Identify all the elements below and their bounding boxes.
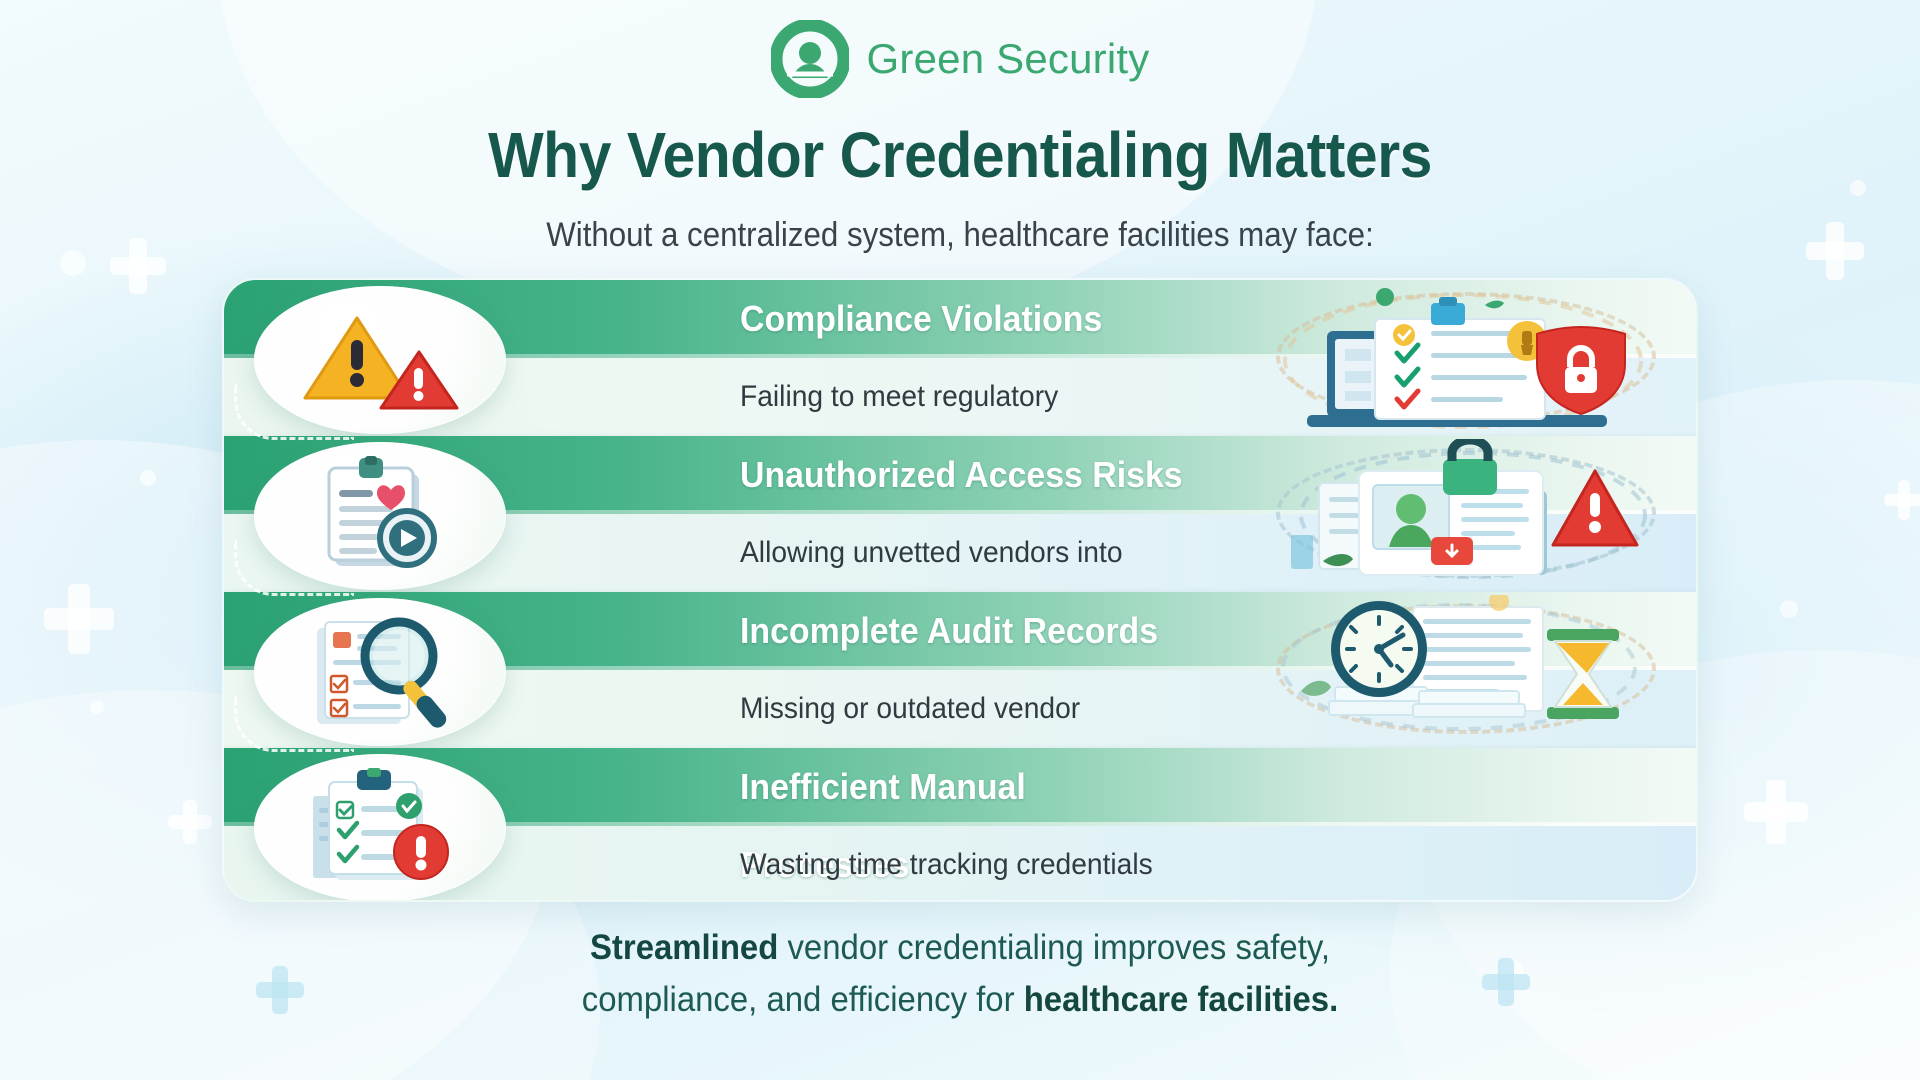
- row-description: Missing or outdated vendor documentation: [740, 670, 1197, 748]
- checklist-clipboard-alert-icon: [254, 754, 506, 902]
- dashed-connector: [234, 540, 354, 596]
- footer-line-2: compliance, and efficiency for healthcar…: [58, 974, 1863, 1026]
- row-text: Unauthorized Access Risks Allowing unvet…: [740, 436, 1226, 592]
- row-description: Failing to meet regulatory requirerments: [740, 358, 1197, 436]
- brand-name: Green Security: [867, 35, 1150, 83]
- dashed-connector: [234, 384, 354, 440]
- brand-header: Green Security: [0, 20, 1920, 98]
- row-title: Inefficient Manual Processes: [740, 748, 1197, 826]
- list-item[interactable]: Unauthorized Access Risks Allowing unvet…: [224, 436, 1696, 592]
- list-item[interactable]: Incomplete Audit Records Missing or outd…: [224, 592, 1696, 748]
- footer-line-1: Streamlined vendor credentialing improve…: [58, 922, 1863, 974]
- row-text: Inefficient Manual Processes Wasting tim…: [740, 748, 1226, 902]
- footer-strong-streamlined: Streamlined: [590, 928, 778, 967]
- page-title: Why Vendor Credentialing Matters: [77, 118, 1843, 192]
- row-title: Compliance Violations: [740, 280, 1197, 358]
- row-text: Incomplete Audit Records Missing or outd…: [740, 592, 1226, 748]
- row-title: Incomplete Audit Records: [740, 592, 1197, 670]
- background-speckle: [90, 700, 104, 714]
- infographic-canvas: Green Security Why Vendor Credentialing …: [0, 0, 1920, 1080]
- issues-panel: Compliance Violations Failing to meet re…: [222, 278, 1698, 902]
- dashed-oval-decoration: [1276, 292, 1656, 422]
- dashed-oval-decoration: [1276, 448, 1656, 578]
- list-item[interactable]: Inefficient Manual Processes Wasting tim…: [224, 748, 1696, 902]
- dashed-connector: [234, 696, 354, 752]
- list-item[interactable]: Compliance Violations Failing to meet re…: [224, 280, 1696, 436]
- row-description: Allowing unvetted vendors into secure ar…: [740, 514, 1197, 592]
- person-in-circle-logo-icon: [771, 20, 849, 98]
- medical-plus-icon: [1884, 480, 1920, 520]
- issues-list: Compliance Violations Failing to meet re…: [224, 280, 1696, 900]
- footer-strong-healthcare: healthcare facilities.: [1024, 980, 1339, 1019]
- background-speckle: [140, 470, 156, 486]
- dashed-oval-decoration: [1276, 604, 1656, 734]
- row-description: Wasting time tracking credentials manual…: [740, 826, 1197, 902]
- footer-message: Streamlined vendor credentialing improve…: [58, 922, 1863, 1026]
- row-text: Compliance Violations Failing to meet re…: [740, 280, 1226, 436]
- medical-plus-icon: [168, 800, 212, 844]
- footer-line-1-rest: vendor credentialing improves safety,: [778, 928, 1330, 967]
- medical-plus-icon: [44, 584, 114, 654]
- medical-plus-icon: [1744, 780, 1808, 844]
- footer-line-2-start: compliance, and efficiency for: [582, 980, 1024, 1019]
- background-speckle: [1780, 600, 1798, 618]
- page-subtitle: Without a centralized system, healthcare…: [77, 216, 1843, 255]
- background-speckle: [1850, 180, 1866, 196]
- row-title: Unauthorized Access Risks: [740, 436, 1197, 514]
